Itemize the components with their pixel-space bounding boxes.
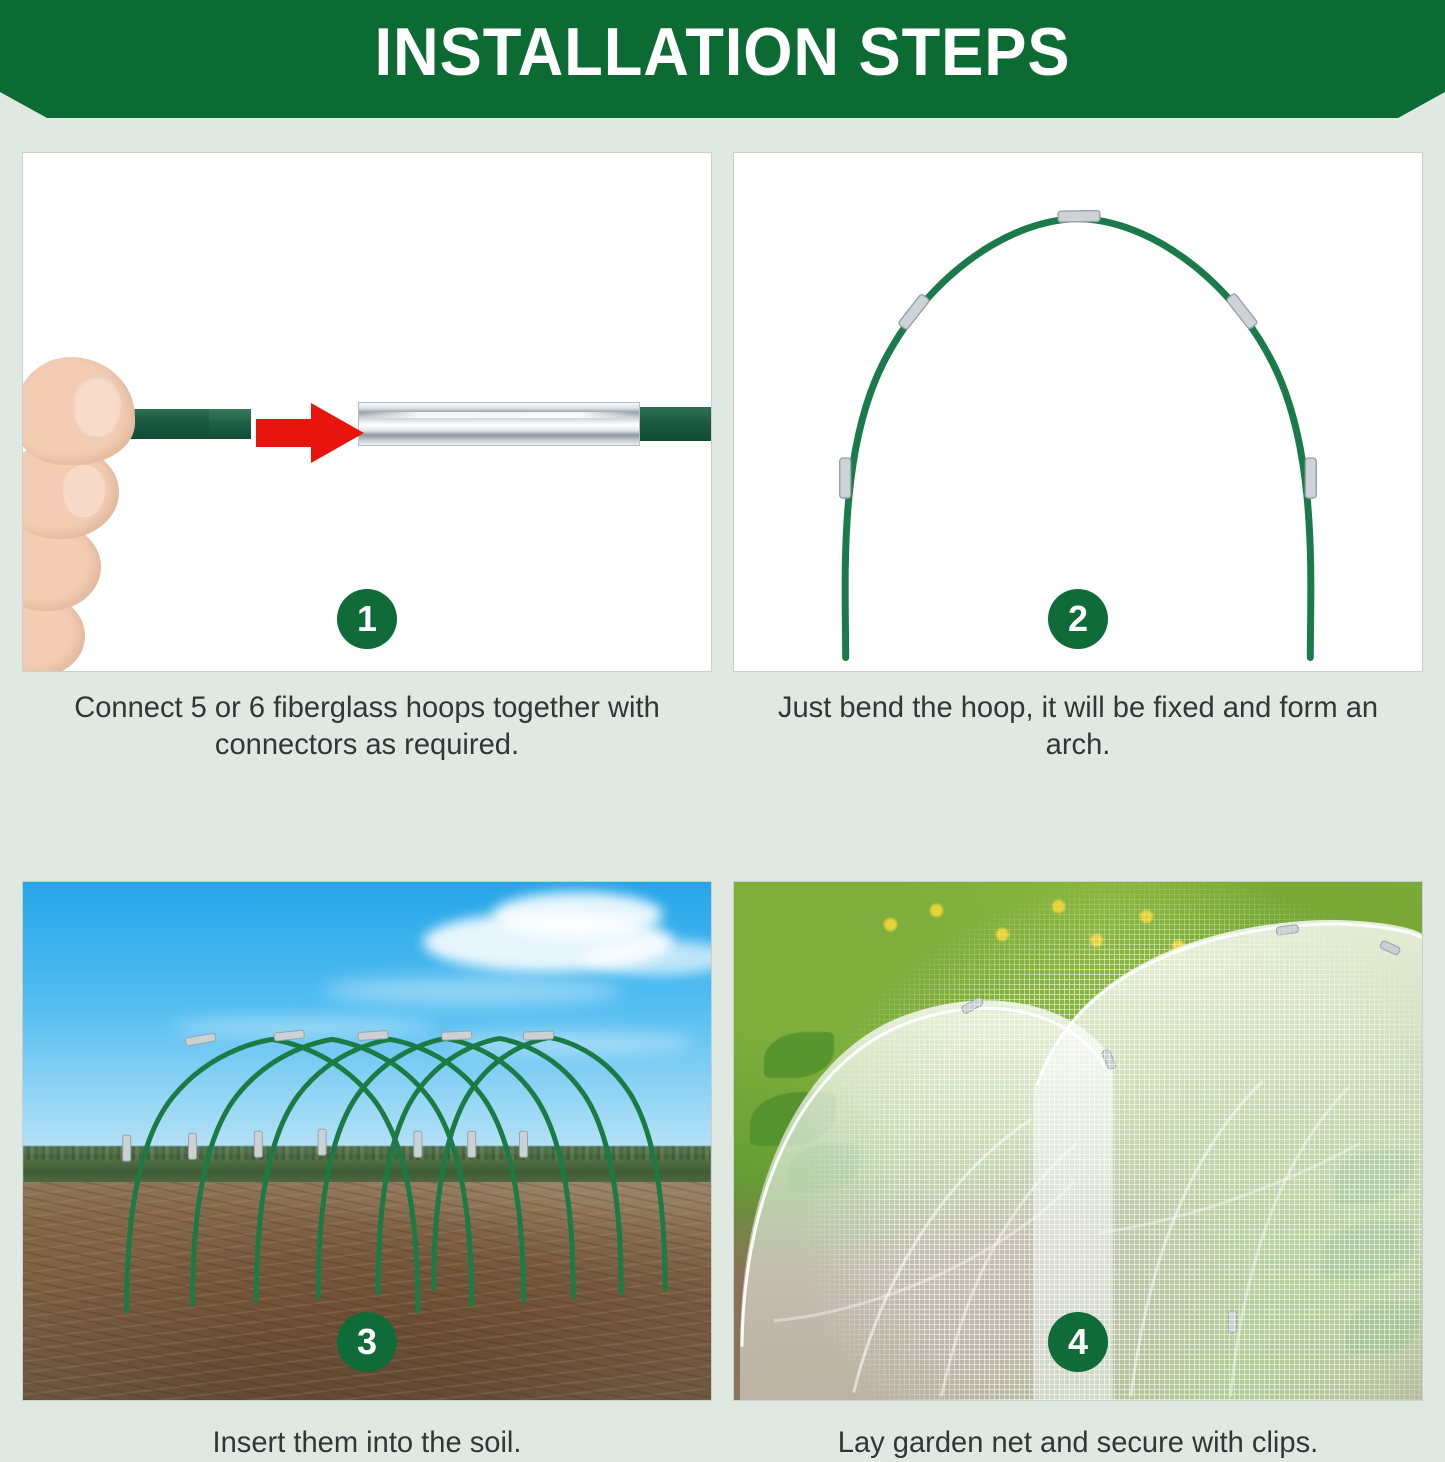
fiberglass-rod-right xyxy=(637,407,712,441)
step-2-caption: Just bend the hoop, it will be fixed and… xyxy=(743,690,1412,763)
hoop-connector xyxy=(468,1131,476,1157)
step-4-image: 4 xyxy=(733,881,1423,1401)
hoop-connector xyxy=(185,1033,216,1046)
connector-lower-left xyxy=(840,458,851,498)
hoop-connector xyxy=(520,1131,528,1157)
hoop-connector xyxy=(414,1131,422,1157)
arrow-head xyxy=(311,403,364,463)
red-arrow-icon xyxy=(256,403,364,463)
step-card-3: 3 Insert them into the soil. xyxy=(22,881,712,1462)
metal-connector-sleeve xyxy=(358,402,640,446)
connector-apex xyxy=(1058,210,1100,222)
connector-upper-left xyxy=(898,294,930,331)
hoop-connector xyxy=(189,1133,197,1159)
net-clip xyxy=(1229,1311,1237,1333)
fingernail-middle xyxy=(63,465,105,517)
step-number-badge: 4 xyxy=(1048,1312,1108,1372)
steps-grid: 1 Connect 5 or 6 fiberglass hoops togeth… xyxy=(22,152,1423,1462)
connector-lower-right xyxy=(1305,458,1316,498)
fiberglass-rod-left-tip xyxy=(209,409,251,439)
arrow-shaft xyxy=(256,419,318,447)
step-card-4: 4 Lay garden net and secure with clips. xyxy=(733,881,1423,1462)
hoop-connector xyxy=(123,1135,131,1161)
page-title: INSTALLATION STEPS xyxy=(51,0,1395,104)
step-3-caption: Insert them into the soil. xyxy=(32,1425,701,1462)
hoop-connector xyxy=(318,1129,326,1155)
header-banner: INSTALLATION STEPS xyxy=(0,0,1445,122)
step-card-1: 1 Connect 5 or 6 fiberglass hoops togeth… xyxy=(22,152,712,763)
fingernail-index xyxy=(73,375,121,437)
hoop-connector xyxy=(254,1131,262,1157)
step-number-badge: 2 xyxy=(1048,589,1108,649)
hoop-connector xyxy=(274,1030,305,1041)
hand-illustration xyxy=(22,349,149,672)
step-number-badge: 3 xyxy=(337,1312,397,1372)
connector-upper-right xyxy=(1226,293,1258,330)
hoop-connector xyxy=(358,1031,388,1041)
hoop xyxy=(127,1040,418,1311)
step-1-image: 1 xyxy=(22,152,712,672)
hoop-connector xyxy=(523,1031,553,1040)
step-3-image: 3 xyxy=(22,881,712,1401)
step-2-image: 2 xyxy=(733,152,1423,672)
step-4-caption: Lay garden net and secure with clips. xyxy=(743,1425,1412,1462)
step-number-badge: 1 xyxy=(337,589,397,649)
step-card-2: 2 Just bend the hoop, it will be fixed a… xyxy=(733,152,1423,763)
hoop-connector xyxy=(442,1031,472,1041)
step-1-caption: Connect 5 or 6 fiberglass hoops together… xyxy=(32,690,701,763)
